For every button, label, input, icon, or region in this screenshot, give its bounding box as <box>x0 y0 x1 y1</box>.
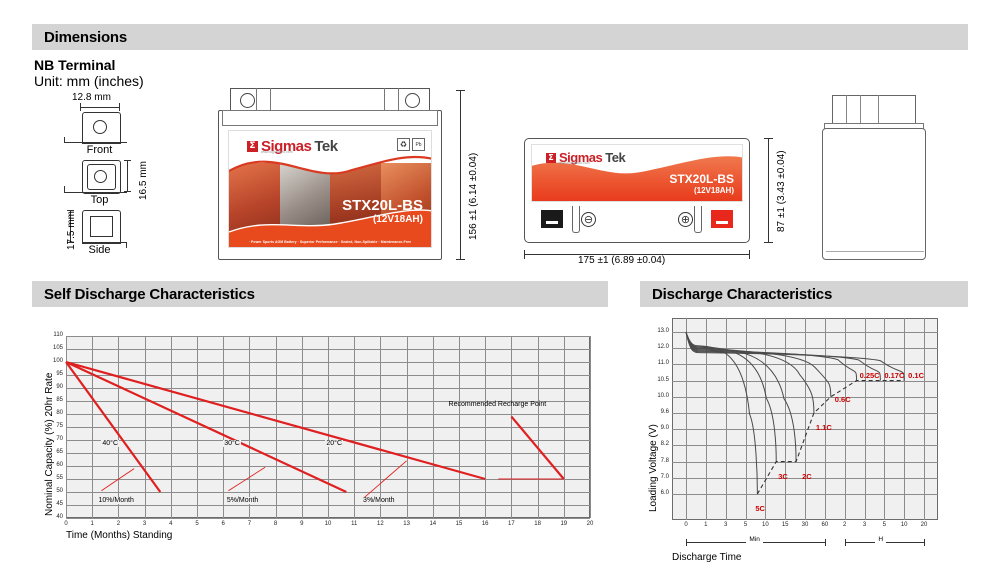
discharge-layer: 13.012.011.010.510.09.69.08.27.87.06.001… <box>672 318 938 520</box>
y-tick-label: 105 <box>46 345 63 351</box>
recharge-pointer-line <box>511 417 563 479</box>
discharge-series-curve <box>686 332 757 494</box>
x-tick-label: 20 <box>582 521 598 527</box>
chart-annotation: 40°C <box>101 440 119 447</box>
terminal-depth-label: 16.5 mm <box>138 161 149 200</box>
battery-side-view: Σ SigmasTek www.sigmastek.com STX20L-BS … <box>524 138 750 243</box>
x-tick-label: 5 <box>876 522 892 528</box>
terminal-drawings: 12.8 mm Front Top 16.5 mm Side 17.5 mm <box>58 92 198 272</box>
recycle-icon: ♻ <box>397 138 410 151</box>
c-rate-label: 2C <box>802 472 812 481</box>
battery-front-view: Σ SigmasTek www.sigmastek.com ♻ Pb STX20… <box>218 88 442 260</box>
battery-label-front: Σ SigmasTek www.sigmastek.com ♻ Pb STX20… <box>228 130 432 248</box>
x-tick-label: 0 <box>58 521 74 527</box>
unit-note: Unit: mm (inches) <box>34 73 144 89</box>
positive-polarity-icon: ⊕ <box>678 212 693 227</box>
gridline-h <box>66 518 590 519</box>
battery-lid-front <box>222 110 438 126</box>
self-discharge-layer: 4045505560657075808590951001051100123456… <box>66 336 590 518</box>
brand-name-part2: Tek <box>314 138 337 155</box>
x-tick-label: 19 <box>556 521 572 527</box>
x-tick-label: 15 <box>451 521 467 527</box>
axis-range-label: Min <box>746 536 762 543</box>
vent-right <box>694 206 702 233</box>
negative-polarity-icon: ⊖ <box>581 212 596 227</box>
x-tick-label: 1 <box>84 521 100 527</box>
axis-range-cap <box>686 539 687 546</box>
series-line <box>66 362 160 492</box>
series-line <box>66 362 346 492</box>
x-tick-label: 7 <box>241 521 257 527</box>
discharge-xlabel: Discharge Time <box>672 552 741 563</box>
model-number-side: STX20L-BS <box>669 172 734 186</box>
x-tick-label: 12 <box>372 521 388 527</box>
section-header-discharge: Discharge Characteristics <box>640 281 968 307</box>
x-tick-label: 17 <box>503 521 519 527</box>
sigma-mark-icon-side: Σ <box>546 153 556 163</box>
x-tick-label: 3 <box>718 522 734 528</box>
c-rate-label: 1.1C <box>816 423 832 432</box>
discharge-axis-groups: MinH <box>672 536 938 550</box>
discharge-curves <box>672 318 938 520</box>
x-tick-label: 3 <box>857 522 873 528</box>
x-tick-label: 11 <box>346 521 362 527</box>
model-block-front: STX20L-BS (12V18AH) <box>342 197 423 225</box>
c-rate-label: 3C <box>778 472 788 481</box>
terminal-width-label: 12.8 mm <box>72 92 111 103</box>
brand-website-side: www.sigmastek.com <box>558 161 590 165</box>
c-rate-label: 0.1C <box>908 371 924 380</box>
chart-annotation: 30°C <box>223 440 241 447</box>
model-spec-side: (12V18AH) <box>669 186 734 195</box>
terminal-front-hole <box>93 120 107 134</box>
x-tick-label: 8 <box>268 521 284 527</box>
section-title-self-discharge: Self Discharge Characteristics <box>32 286 255 303</box>
y-tick-label: 12.0 <box>648 344 669 350</box>
section-title-discharge: Discharge Characteristics <box>640 286 832 303</box>
chart-annotation: 20°C <box>325 440 343 447</box>
positive-terminal-block <box>711 210 733 228</box>
terminal-view-top: Top <box>72 194 127 206</box>
battery-cap-profile <box>832 95 916 124</box>
x-tick-label: 6 <box>215 521 231 527</box>
x-tick-label: 10 <box>320 521 336 527</box>
chart-annotation: 5%/Month <box>226 497 260 504</box>
self-discharge-xlabel: Time (Months) Standing <box>66 530 172 541</box>
label-compliance-icons: ♻ Pb <box>397 138 425 151</box>
chart-annotation: 3%/Month <box>362 497 396 504</box>
height-dimension-label: 156 ±1 (6.14 ±0.04) <box>468 153 479 240</box>
terminal-top-hole <box>94 170 107 183</box>
x-tick-label: 13 <box>399 521 415 527</box>
axis-range-cap <box>924 539 925 546</box>
x-tick-label: 4 <box>163 521 179 527</box>
c-rate-label: 0.17C <box>884 371 904 380</box>
brand-name-part2-side: Tek <box>605 150 625 165</box>
x-tick-label: 5 <box>189 521 205 527</box>
model-number: STX20L-BS <box>342 197 423 214</box>
discharge-series-curve <box>686 332 880 381</box>
axis-range-cap <box>825 539 826 546</box>
chart-annotation: Recommended Recharge Point <box>449 401 547 408</box>
battery-terminal-right <box>405 93 420 108</box>
x-tick-label: 2 <box>110 521 126 527</box>
x-tick-label: 3 <box>137 521 153 527</box>
lead-pb-icon: Pb <box>412 138 425 151</box>
y-tick-label: 100 <box>46 358 63 364</box>
vent-left <box>572 206 580 233</box>
leader-line <box>101 469 134 491</box>
length-dimension-label: 175 ±1 (6.89 ±0.04) <box>578 255 665 266</box>
y-tick-label: 9.6 <box>648 409 669 415</box>
x-tick-label: 14 <box>425 521 441 527</box>
x-tick-label: 60 <box>817 522 833 528</box>
x-tick-label: 15 <box>777 522 793 528</box>
y-tick-label: 110 <box>46 332 63 338</box>
discharge-series-curve <box>686 332 814 413</box>
label-tagline: · Power Sports AGM Battery · Superior Pe… <box>229 237 431 247</box>
series-line <box>66 362 485 479</box>
battery-label-side: Σ SigmasTek www.sigmastek.com STX20L-BS … <box>531 144 743 202</box>
x-tick-label: 0 <box>678 522 694 528</box>
terminal-view-front: Front <box>72 144 127 156</box>
terminal-view-side: Side <box>72 244 127 256</box>
x-tick-label: 30 <box>797 522 813 528</box>
x-tick-label: 9 <box>294 521 310 527</box>
chart-annotation: 10%/Month <box>97 497 134 504</box>
axis-range-cap <box>845 539 846 546</box>
x-tick-label: 5 <box>738 522 754 528</box>
x-tick-label: 16 <box>477 521 493 527</box>
battery-cap-strip <box>230 88 430 111</box>
x-tick-label: 10 <box>896 522 912 528</box>
x-tick-label: 20 <box>916 522 932 528</box>
axis-range-label: H <box>875 536 886 543</box>
y-tick-label: 11.0 <box>648 360 669 366</box>
discharge-ylabel: Loading Voltage (V) <box>648 424 659 512</box>
c-rate-label: 0.6C <box>835 395 851 404</box>
battery-case-profile <box>822 128 926 260</box>
y-tick-label: 13.0 <box>648 328 669 334</box>
leader-line <box>228 467 265 490</box>
y-tick-label: 10.0 <box>648 393 669 399</box>
leader-line <box>365 461 407 497</box>
section-header-self-discharge: Self Discharge Characteristics <box>32 281 608 307</box>
self-discharge-ylabel: Nominal Capacity (%) 20hr Rate <box>44 373 55 516</box>
brand-website: www.sigmastek.com <box>261 150 293 154</box>
gridline-v <box>590 336 591 518</box>
x-tick-label: 1 <box>698 522 714 528</box>
nb-terminal-title: NB Terminal <box>34 57 115 73</box>
discharge-series-curve <box>686 332 831 397</box>
section-header-dimensions: Dimensions <box>32 24 968 50</box>
self-discharge-curves <box>66 336 590 518</box>
battery-profile-view <box>822 95 926 260</box>
negative-terminal-block <box>541 210 563 228</box>
x-tick-label: 2 <box>837 522 853 528</box>
terminal-height-label: 17.5 mm <box>66 211 77 250</box>
model-spec: (12V18AH) <box>342 214 423 225</box>
c-rate-label: 0.25C <box>860 371 880 380</box>
c-rate-label: 5C <box>755 504 765 513</box>
terminal-side-inner <box>90 216 113 237</box>
sigma-mark-icon: Σ <box>247 141 258 152</box>
y-tick-label: 10.5 <box>648 377 669 383</box>
depth-dimension-label: 87 ±1 (3.43 ±0.04) <box>776 150 787 232</box>
x-tick-label: 18 <box>530 521 546 527</box>
battery-terminal-left <box>240 93 255 108</box>
x-tick-label: 10 <box>757 522 773 528</box>
model-block-side: STX20L-BS (12V18AH) <box>669 172 734 195</box>
section-title-dimensions: Dimensions <box>32 29 127 46</box>
